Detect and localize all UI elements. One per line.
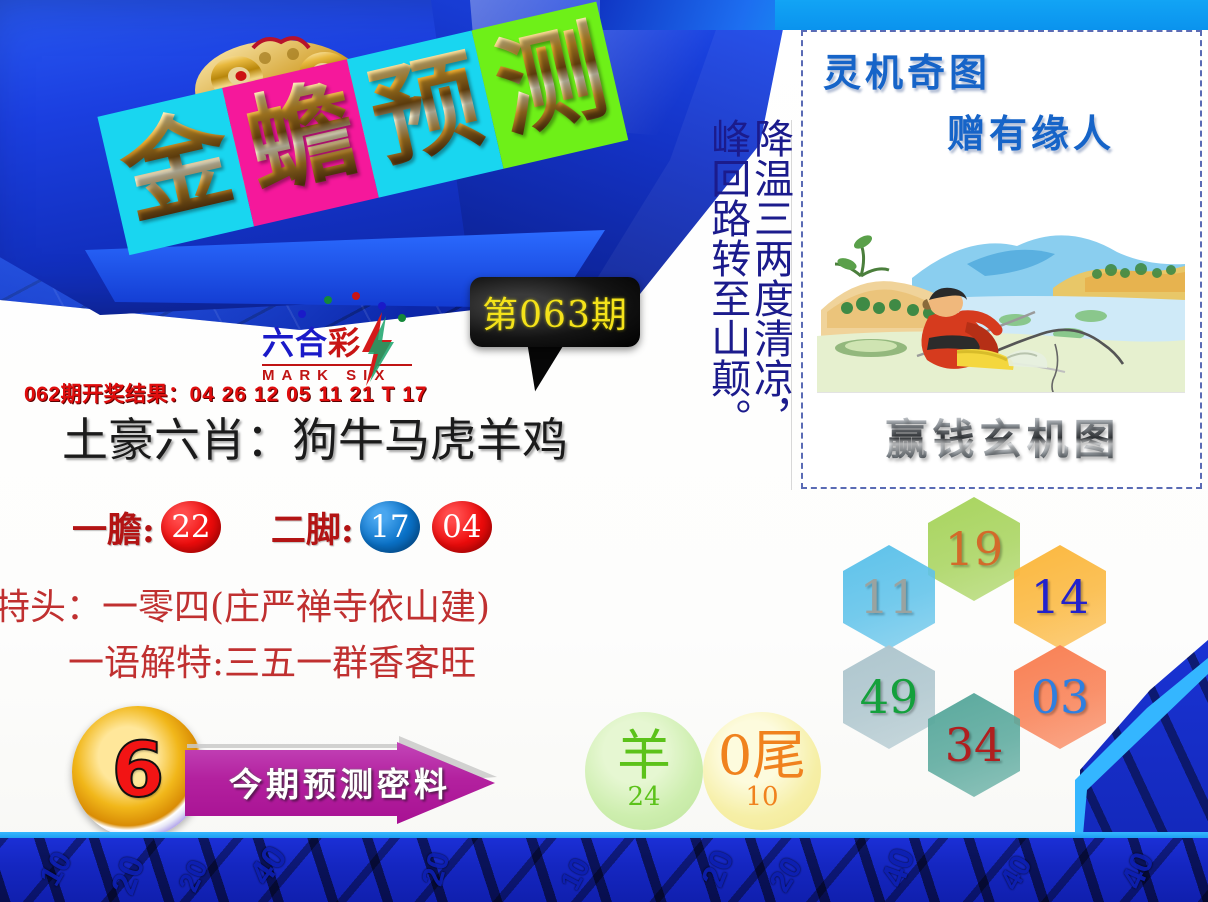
card-title-line2: 赠有缘人 [947, 103, 1197, 158]
tail-circle-sub: 10 [745, 782, 778, 812]
hexagon-number-value: 34 [945, 718, 1004, 772]
fisherman-lake-illustration [817, 160, 1185, 393]
bottom-banner: 10 20 20 40 20 10 20 20 40 40 40 [0, 838, 1208, 902]
hexagon-number-value: 19 [945, 522, 1004, 576]
card-title: 灵机奇图 赠有缘人 [817, 42, 1197, 162]
period-badge-label: 第063期 [482, 286, 628, 338]
zodiac-circle: 羊 24 [585, 712, 703, 830]
card-footer-label: 赢钱玄机图 [885, 406, 1120, 467]
hexagon-number-value: 14 [1031, 570, 1090, 624]
poem-column-right: 降温三两度清凉， [749, 118, 790, 498]
six-zodiac-value: 狗牛马虎羊鸡 [292, 413, 568, 467]
previous-result-numbers: 04 26 12 05 11 21 T 17 [190, 383, 428, 406]
card-footer: 赢钱玄机图 [813, 402, 1193, 470]
jiao-ball-2: 04 [432, 501, 492, 553]
hexagon-number-value: 11 [860, 570, 919, 624]
confetti-dots-icon [290, 292, 420, 326]
zodiac-circle-sub: 24 [627, 782, 660, 812]
previous-result-label: 062期开奖结果： [24, 383, 190, 406]
poem-column-left: 峰回路转至山颠。 [706, 118, 747, 498]
lucky-number-value: 6 [112, 732, 165, 808]
hexagon-number-value: 49 [860, 670, 919, 724]
poster-canvas: 10 10 20 20 [0, 0, 1208, 902]
tail-circle-main: 0尾 [718, 730, 806, 781]
six-zodiac-label: 土豪六肖： [62, 413, 292, 467]
dan-label: 一膽: [72, 502, 155, 553]
special-head-line: 特头：一零四(庄严禅寺依山建) [0, 578, 694, 630]
jiao-ball-1: 17 [360, 501, 420, 553]
picks-row: 一膽: 22 二脚: 17 04 [72, 492, 632, 562]
header-band-cyan [775, 0, 1208, 30]
mystic-picture-card: 灵机奇图 赠有缘人 [801, 30, 1202, 489]
one-word-line: 一语解特:三五一群香客旺 [68, 634, 768, 686]
prediction-arrow: 今期预测密料 [185, 742, 495, 824]
card-title-line1: 灵机奇图 [823, 42, 1197, 97]
six-zodiac-row: 土豪六肖：狗牛马虎羊鸡 [62, 404, 682, 470]
poem-block: 降温三两度清凉， 峰回路转至山颠。 [676, 118, 790, 498]
dan-ball: 22 [161, 501, 221, 553]
arrow-label: 今期预测密料 [229, 758, 451, 806]
hexagon-number-value: 03 [1031, 670, 1090, 724]
period-badge: 第063期 [470, 277, 640, 347]
zodiac-circle-main: 羊 [617, 730, 671, 781]
tail-circle: 0尾 10 [703, 712, 821, 830]
jiao-label: 二脚: [271, 502, 354, 553]
badge-tail [521, 342, 563, 394]
